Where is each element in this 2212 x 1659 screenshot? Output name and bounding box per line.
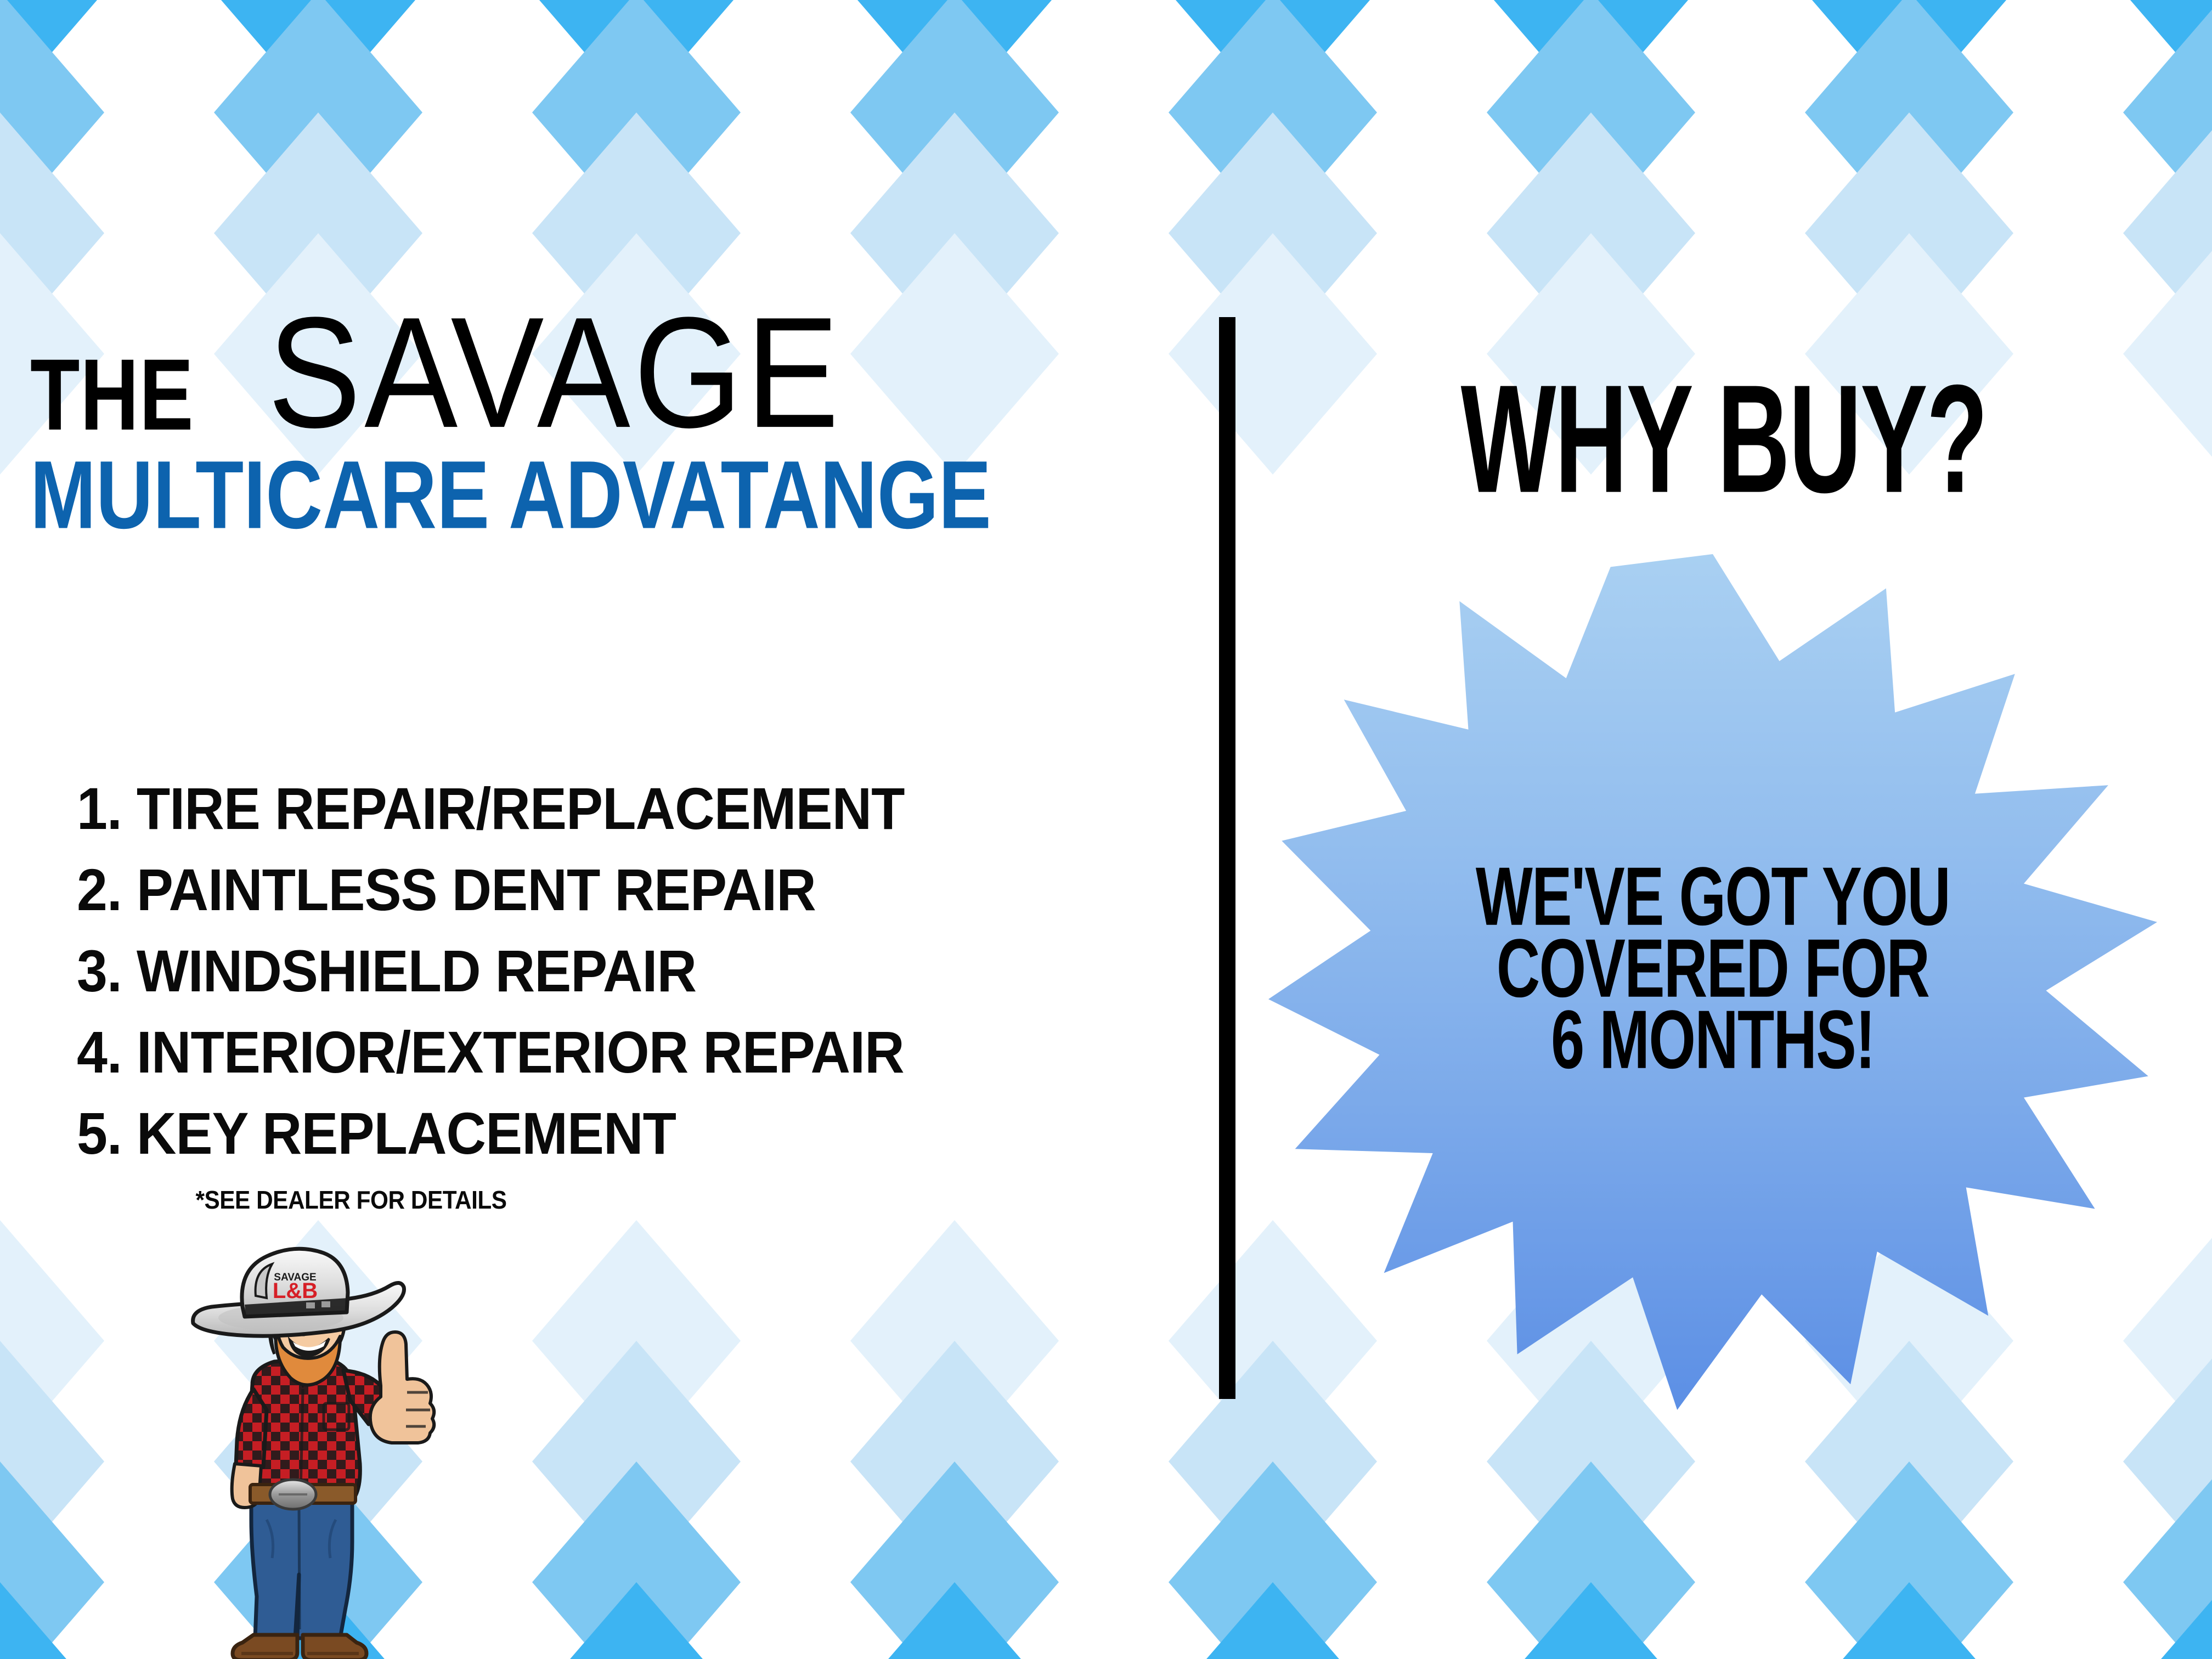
why-buy-heading: WHY BUY? [1333, 362, 2114, 516]
mascot-jeans [251, 1493, 352, 1638]
mascot-belt [250, 1480, 356, 1509]
list-item: 2. PAINTLESS DENT REPAIR [77, 860, 1097, 919]
right-panel: WHY BUY? WE'VE GOT YOU COVERED FOR 6 MON… [1235, 0, 2212, 1659]
list-item: 3. WINDSHIELD REPAIR [77, 941, 1097, 1001]
savage-lb-cowboy-mascot: SAVAGE L&B [159, 1245, 444, 1659]
title-subline-multicare: MULTICARE ADVATANGE [30, 447, 1047, 543]
starburst-line: 6 MONTHS! [1330, 998, 2095, 1082]
left-panel: THE SAVAGE MULTICARE ADVATANGE 1. TIRE R… [0, 0, 1219, 1659]
title-block: THE SAVAGE MULTICARE ADVATANGE [30, 324, 1160, 534]
services-list: 1. TIRE REPAIR/REPLACEMENT 2. PAINTLESS … [77, 779, 1174, 1185]
starburst-callout: WE'VE GOT YOU COVERED FOR 6 MONTHS! [1268, 554, 2157, 1410]
list-item: 5. KEY REPLACEMENT [77, 1104, 1097, 1163]
vertical-divider [1219, 317, 1235, 1399]
starburst-text-block: WE'VE GOT YOU COVERED FOR 6 MONTHS! [1268, 861, 2157, 1076]
hat-logo-lb-text: L&B [273, 1279, 318, 1303]
title-word-the: THE [30, 352, 194, 439]
list-item: 4. INTERIOR/EXTERIOR REPAIR [77, 1023, 1097, 1082]
fine-print-disclaimer: *SEE DEALER FOR DETAILS [99, 1185, 603, 1215]
title-word-savage: SAVAGE [268, 307, 843, 439]
title-row-primary: THE SAVAGE [30, 324, 1160, 439]
mascot-cowboy-hat: SAVAGE L&B [193, 1249, 404, 1336]
promo-poster: THE SAVAGE MULTICARE ADVATANGE 1. TIRE R… [0, 0, 2212, 1659]
list-item: 1. TIRE REPAIR/REPLACEMENT [77, 779, 1097, 838]
